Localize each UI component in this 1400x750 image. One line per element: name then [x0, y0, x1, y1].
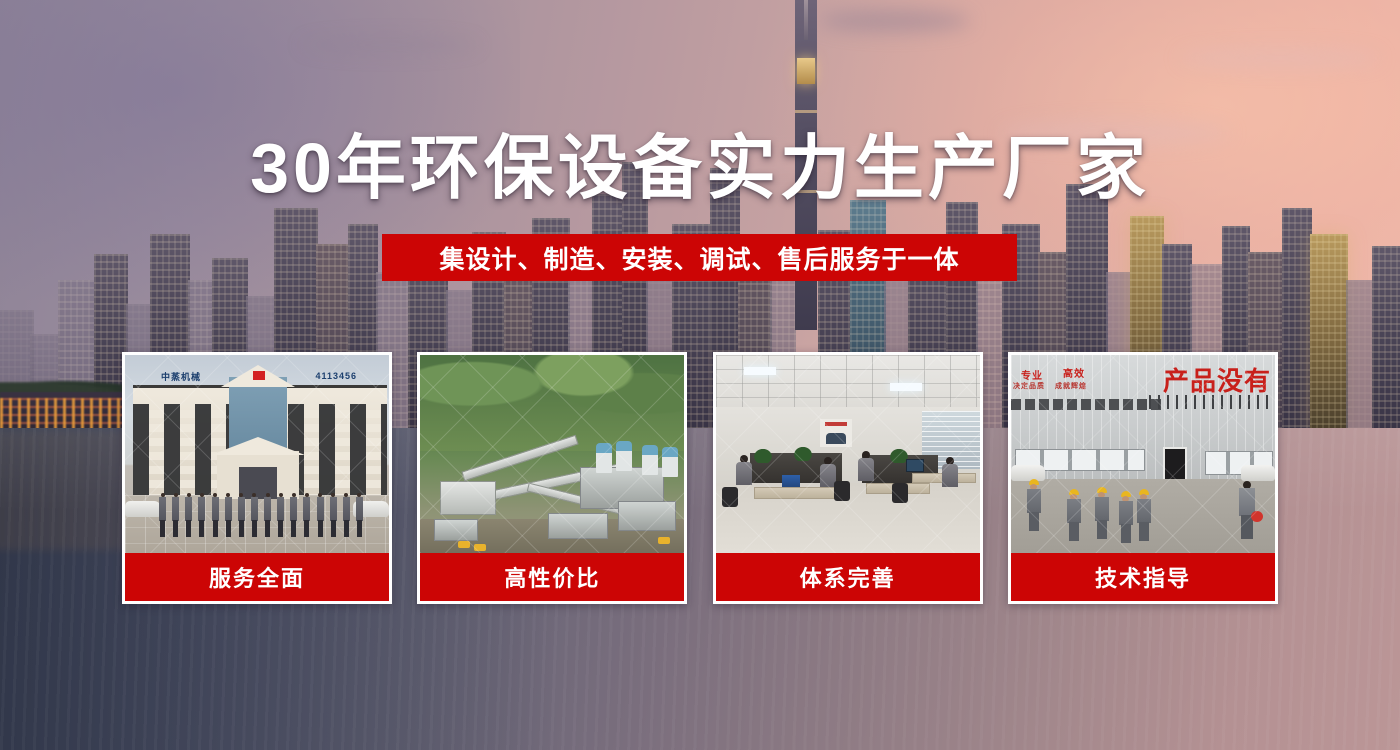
factory-slogan-4: 决定品质 — [1013, 381, 1045, 391]
building-sign-phone: 4113456 — [315, 371, 357, 381]
subtitle-banner: 集设计、制造、安装、调试、售后服务于一体 — [382, 234, 1017, 281]
building-sign-name: 中蒸机械 — [161, 370, 201, 383]
card-caption: 高性价比 — [420, 553, 684, 601]
feature-card-system[interactable]: 体系完善 — [713, 352, 983, 604]
promo-banner: 30年环保设备实力生产厂家 集设计、制造、安装、调试、售后服务于一体 中蒸机械 … — [0, 0, 1400, 750]
card-caption-label: 技术指导 — [1095, 561, 1191, 593]
feature-card-value[interactable]: 高性价比 — [417, 352, 687, 604]
card-caption: 技术指导 — [1011, 553, 1275, 601]
parked-car — [125, 501, 161, 517]
flag-icon — [253, 371, 265, 380]
staff-row — [159, 493, 363, 539]
card-caption-label: 服务全面 — [209, 561, 305, 593]
feature-card-list: 中蒸机械 4113456 — [122, 352, 1278, 604]
subtitle-text: 集设计、制造、安装、调试、售后服务于一体 — [439, 240, 959, 276]
card-caption-label: 体系完善 — [800, 561, 896, 593]
card-caption: 服务全面 — [125, 553, 389, 601]
feature-card-training[interactable]: 产品没有 专业 高效 决定品质 成就辉煌 — [1008, 352, 1278, 604]
feature-card-service[interactable]: 中蒸机械 4113456 — [122, 352, 392, 604]
factory-slogan-5: 成就辉煌 — [1055, 381, 1087, 391]
photo-company-building: 中蒸机械 4113456 — [125, 355, 389, 553]
card-caption-label: 高性价比 — [504, 561, 600, 593]
tower-spire — [804, 0, 808, 40]
factory-slogan-3: 高效 — [1063, 365, 1085, 380]
photo-plant-aerial — [420, 355, 684, 553]
photo-workshop-workers: 产品没有 专业 高效 决定品质 成就辉煌 — [1011, 355, 1275, 553]
factory-slogan-2: 专业 — [1021, 367, 1043, 382]
red-helmet-icon — [1251, 511, 1263, 522]
supervisor — [1239, 481, 1255, 539]
parked-car — [1241, 465, 1275, 481]
photo-office-interior — [716, 355, 980, 553]
factory-slogan: 产品没有 — [1163, 361, 1271, 398]
tower-crown-light — [797, 58, 815, 84]
page-title: 30年环保设备实力生产厂家 — [0, 133, 1400, 203]
card-caption: 体系完善 — [716, 553, 980, 601]
